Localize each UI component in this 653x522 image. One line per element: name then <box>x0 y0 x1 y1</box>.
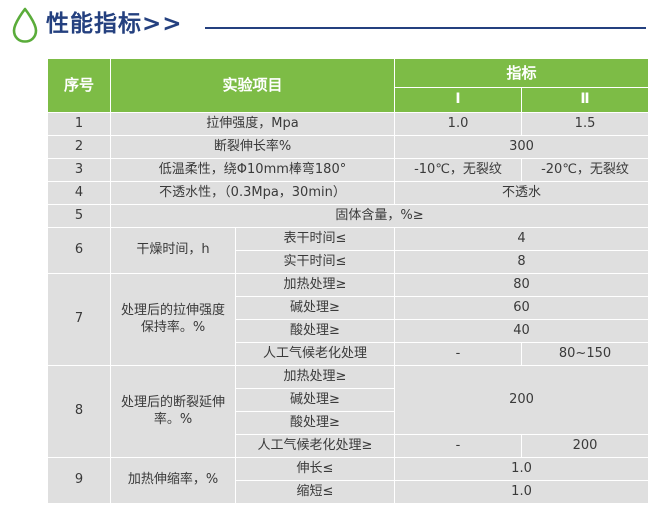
cell-subitem: 碱处理≥ <box>236 297 394 319</box>
table-row: 2 断裂伸长率% 300 <box>48 136 648 158</box>
performance-spec-table: 序号 实验项目 指标 Ⅰ Ⅱ 1 拉伸强度，Mpa 1.0 1.5 2 断裂伸长… <box>47 58 649 504</box>
cell-no: 1 <box>48 113 110 135</box>
cell-value-span: 60 <box>395 297 648 319</box>
table-row: 3 低温柔性，绕Φ10mm棒弯180° -10℃，无裂纹 -20℃，无裂纹 <box>48 159 648 181</box>
page-title: 性能指标>> <box>46 9 183 39</box>
table-row: 1 拉伸强度，Mpa 1.0 1.5 <box>48 113 648 135</box>
cell-subitem: 酸处理≥ <box>236 412 394 434</box>
table-row: 4 不透水性，（0.3Mpa，30min） 不透水 <box>48 182 648 204</box>
cell-value-span: 1.0 <box>395 458 648 480</box>
cell-item: 低温柔性，绕Φ10mm棒弯180° <box>111 159 394 181</box>
cell-value-ii: 200 <box>522 435 648 457</box>
cell-no: 8 <box>48 366 110 457</box>
header-cell-item: 实验项目 <box>111 59 394 112</box>
cell-value-span: 40 <box>395 320 648 342</box>
cell-value-ii: -20℃，无裂纹 <box>522 159 648 181</box>
cell-value-i: - <box>395 343 521 365</box>
cell-value-span: 300 <box>395 136 648 158</box>
cell-value-i: 1.0 <box>395 113 521 135</box>
cell-item: 加热伸缩率，% <box>111 458 235 503</box>
header-cell-spec: 指标 <box>395 59 648 87</box>
table-row: 6 干燥时间，h 表干时间≤ 4 <box>48 228 648 250</box>
cell-subitem: 酸处理≥ <box>236 320 394 342</box>
cell-value-group: 200 <box>395 366 648 434</box>
cell-item: 干燥时间，h <box>111 228 235 273</box>
table-row: 7 处理后的拉伸强度保持率。% 加热处理≥ 80 <box>48 274 648 296</box>
cell-value-i: - <box>395 435 521 457</box>
cell-item: 处理后的断裂延伸率。% <box>111 366 235 457</box>
cell-no: 9 <box>48 458 110 503</box>
cell-value-span: 4 <box>395 228 648 250</box>
cell-no: 3 <box>48 159 110 181</box>
cell-subitem: 加热处理≥ <box>236 274 394 296</box>
page-header: 性能指标>> <box>0 0 653 50</box>
cell-value-i: -10℃，无裂纹 <box>395 159 521 181</box>
cell-value-span: 不透水 <box>395 182 648 204</box>
table-header: 序号 实验项目 指标 Ⅰ Ⅱ <box>48 59 648 112</box>
cell-subitem: 人工气候老化处理 <box>236 343 394 365</box>
cell-subitem: 实干时间≤ <box>236 251 394 273</box>
table-row: 9 加热伸缩率，% 伸长≤ 1.0 <box>48 458 648 480</box>
cell-subitem: 表干时间≤ <box>236 228 394 250</box>
cell-subitem: 缩短≤ <box>236 481 394 503</box>
cell-no: 5 <box>48 205 110 227</box>
header-cell-spec-i: Ⅰ <box>395 88 521 112</box>
cell-subitem: 人工气候老化处理≥ <box>236 435 394 457</box>
cell-subitem: 加热处理≥ <box>236 366 394 388</box>
table-row: 8 处理后的断裂延伸率。% 加热处理≥ 200 <box>48 366 648 388</box>
header-cell-no: 序号 <box>48 59 110 112</box>
cell-value-ii: 1.5 <box>522 113 648 135</box>
cell-value-span: 1.0 <box>395 481 648 503</box>
cell-no: 6 <box>48 228 110 273</box>
cell-item-full: 固体含量，%≥ <box>111 205 648 227</box>
cell-subitem: 伸长≤ <box>236 458 394 480</box>
cell-item: 拉伸强度，Mpa <box>111 113 394 135</box>
cell-value-ii: 80~150 <box>522 343 648 365</box>
water-drop-icon <box>11 7 39 43</box>
table-row: 5 固体含量，%≥ <box>48 205 648 227</box>
table-body: 1 拉伸强度，Mpa 1.0 1.5 2 断裂伸长率% 300 3 低温柔性，绕… <box>48 113 648 503</box>
header-cell-spec-ii: Ⅱ <box>522 88 648 112</box>
cell-no: 7 <box>48 274 110 365</box>
cell-item: 处理后的拉伸强度保持率。% <box>111 274 235 365</box>
header-divider <box>205 27 646 29</box>
cell-item: 断裂伸长率% <box>111 136 394 158</box>
cell-item: 不透水性，（0.3Mpa，30min） <box>111 182 394 204</box>
cell-subitem: 碱处理≥ <box>236 389 394 411</box>
cell-no: 4 <box>48 182 110 204</box>
cell-no: 2 <box>48 136 110 158</box>
cell-value-span: 80 <box>395 274 648 296</box>
cell-value-span: 8 <box>395 251 648 273</box>
